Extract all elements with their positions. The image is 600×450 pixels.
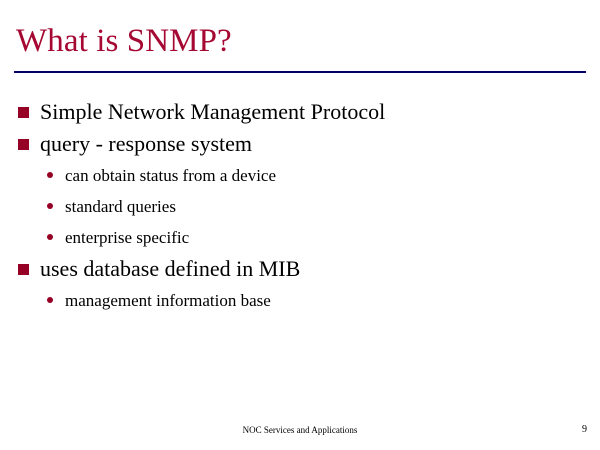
square-bullet-icon bbox=[18, 264, 29, 275]
list-item: enterprise specific bbox=[0, 222, 600, 253]
list-item: query - response system bbox=[0, 128, 600, 160]
square-bullet-icon bbox=[18, 139, 29, 150]
list-item-label: management information base bbox=[65, 285, 600, 316]
list-item-label: uses database defined in MIB bbox=[40, 253, 600, 285]
list-item-label: Simple Network Management Protocol bbox=[40, 96, 600, 128]
list-item: standard queries bbox=[0, 191, 600, 222]
list-item: uses database defined in MIB bbox=[0, 253, 600, 285]
title-block: What is SNMP? bbox=[16, 22, 586, 60]
page-title: What is SNMP? bbox=[16, 22, 586, 60]
square-bullet-icon bbox=[18, 107, 29, 118]
list-item: Simple Network Management Protocol bbox=[0, 96, 600, 128]
title-divider bbox=[14, 71, 586, 73]
dot-bullet-icon bbox=[47, 172, 53, 178]
list-item: management information base bbox=[0, 285, 600, 316]
footer-label: NOC Services and Applications bbox=[0, 424, 600, 436]
dot-bullet-icon bbox=[47, 203, 53, 209]
list-item-label: query - response system bbox=[40, 128, 600, 160]
page-number: 9 bbox=[582, 424, 587, 436]
dot-bullet-icon bbox=[47, 234, 53, 240]
list-item-label: enterprise specific bbox=[65, 222, 600, 253]
bullet-list: Simple Network Management Protocol query… bbox=[0, 96, 600, 316]
list-item: can obtain status from a device bbox=[0, 160, 600, 191]
dot-bullet-icon bbox=[47, 297, 53, 303]
list-item-label: can obtain status from a device bbox=[65, 160, 600, 191]
list-item-label: standard queries bbox=[65, 191, 600, 222]
slide-canvas: What is SNMP? Simple Network Management … bbox=[0, 0, 600, 450]
